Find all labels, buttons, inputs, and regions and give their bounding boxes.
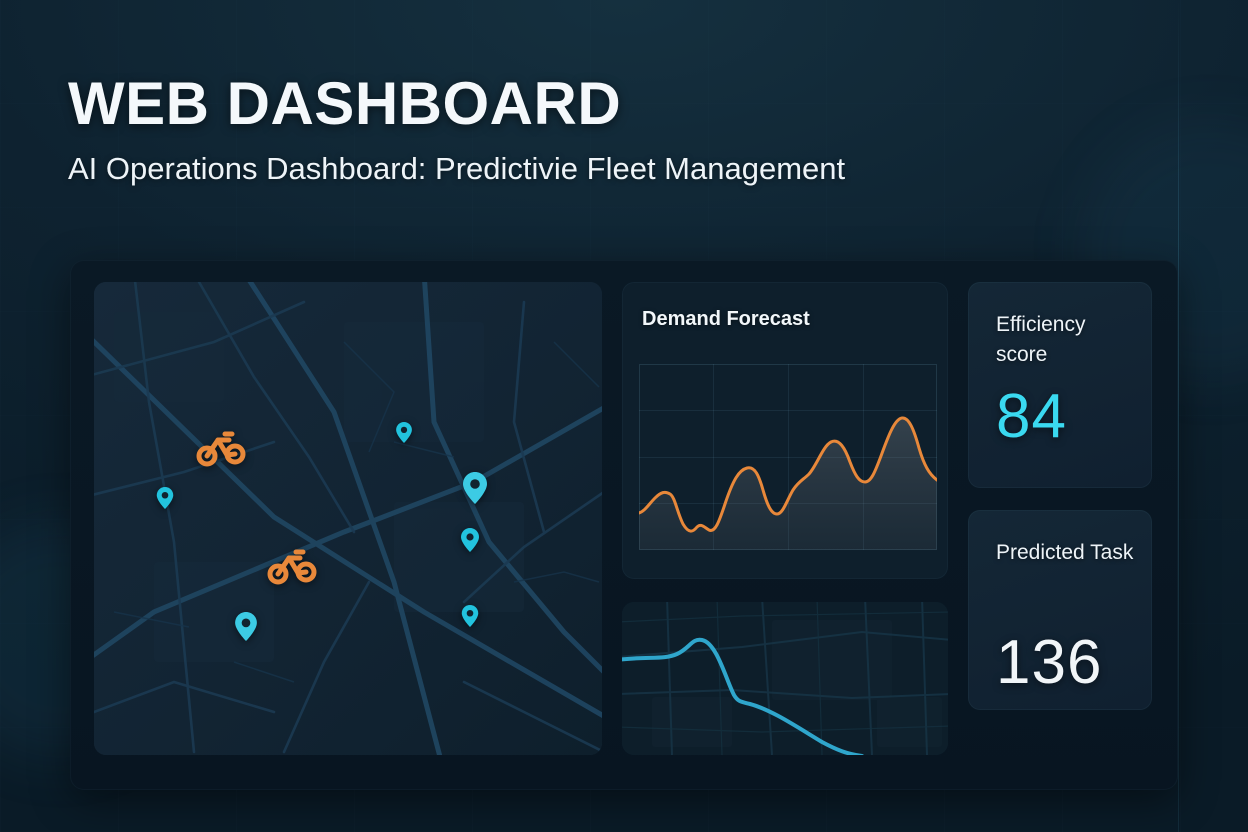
route-map-canvas (622, 602, 948, 755)
map-marker[interactable] (396, 422, 412, 443)
dashboard-page: WEB DASHBOARD AI Operations Dashboard: P… (0, 0, 1248, 832)
chart-title: Demand Forecast (642, 308, 810, 331)
kpi-value: 84 (996, 386, 1067, 448)
kpi-label: Efficiency score (996, 310, 1134, 371)
map-marker[interactable] (461, 528, 479, 552)
route-map-panel[interactable] (622, 602, 948, 755)
bicycle-icon[interactable] (267, 545, 317, 587)
kpi-value: 136 (996, 632, 1102, 694)
map-marker[interactable] (157, 487, 174, 509)
page-header: WEB DASHBOARD AI Operations Dashboard: P… (68, 72, 1188, 187)
fleet-map-canvas (94, 282, 602, 755)
demand-forecast-chart (639, 364, 937, 550)
chart-canvas (639, 364, 937, 550)
kpi-label: Predicted Task (996, 538, 1134, 568)
map-marker[interactable] (461, 605, 478, 627)
demand-forecast-panel: Demand Forecast (622, 282, 948, 579)
kpi-card-predicted-task[interactable]: Predicted Task 136 (968, 510, 1152, 710)
fleet-map-panel[interactable] (94, 282, 602, 755)
bicycle-icon[interactable] (196, 427, 246, 469)
dashboard-container: Demand Forecast (70, 260, 1178, 790)
map-marker[interactable] (235, 612, 257, 641)
map-marker[interactable] (463, 472, 487, 504)
page-title: WEB DASHBOARD (68, 72, 1188, 135)
kpi-card-efficiency-score[interactable]: Efficiency score 84 (968, 282, 1152, 488)
page-subtitle: AI Operations Dashboard: Predictivie Fle… (68, 151, 1188, 187)
